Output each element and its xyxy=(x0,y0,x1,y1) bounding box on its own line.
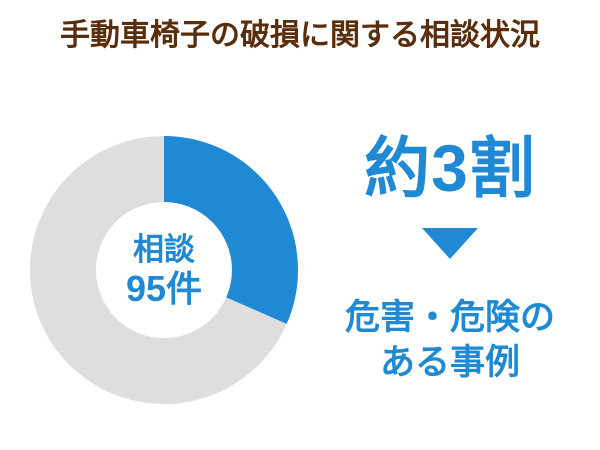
donut-chart-svg xyxy=(30,136,298,404)
headline-ratio: 約3割 xyxy=(364,130,536,206)
callout-caption-line2: ある事例 xyxy=(345,340,555,385)
arrow-down-icon xyxy=(422,228,478,259)
callout-panel: 約3割 危害・危険の ある事例 xyxy=(305,130,595,385)
page-title: 手動車椅子の破損に関する相談状況 xyxy=(0,18,600,54)
callout-caption-line1: 危害・危険の xyxy=(345,295,555,340)
donut-chart: 相談 95件 xyxy=(30,136,298,404)
callout-caption: 危害・危険の ある事例 xyxy=(345,295,555,385)
